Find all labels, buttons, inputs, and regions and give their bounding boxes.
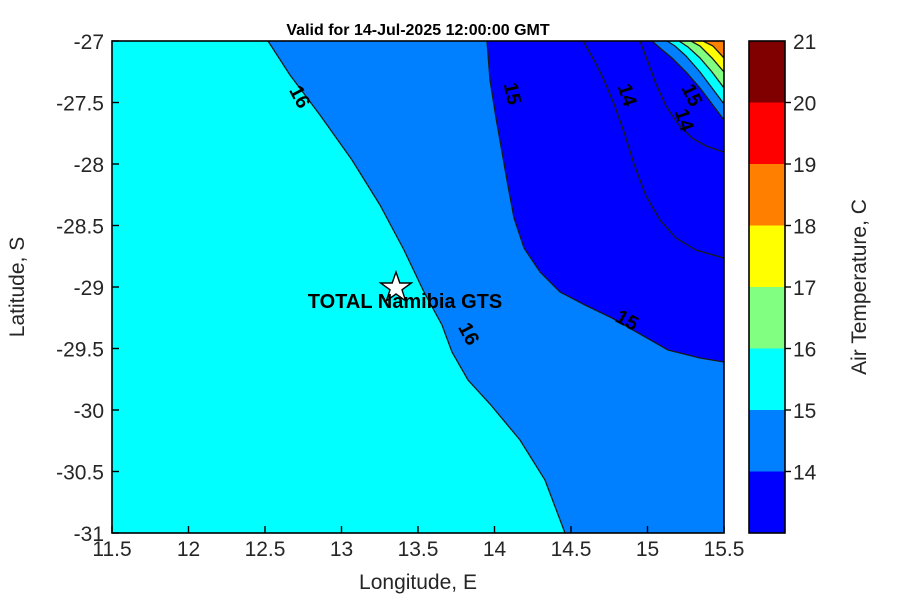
colorbar-band-20-21 [749, 41, 785, 103]
y-tick-label: -30 [74, 400, 104, 423]
colorbar-tick-label: 19 [793, 154, 816, 177]
x-tick-label: 12 [177, 538, 200, 561]
x-tick-label: 14.5 [551, 538, 592, 561]
y-tick-label: -27.5 [56, 93, 104, 116]
colorbar-band-19-20 [749, 103, 785, 165]
y-tick-label: -27 [74, 31, 104, 54]
colorbar-tick-label: 20 [793, 93, 816, 116]
x-tick-label: 13.5 [398, 538, 439, 561]
colorbar-band-17-18 [749, 226, 785, 288]
colorbar-band-15-16 [749, 349, 785, 411]
colorbar-tick-label: 16 [793, 339, 816, 362]
contour-label-15-upper: 15 [499, 81, 525, 107]
colorbar-tick-label: 14 [793, 462, 817, 485]
plot-area [112, 41, 724, 533]
x-tick-label: 13 [330, 538, 353, 561]
station-label: TOTAL Namibia GTS [308, 291, 502, 313]
y-tick-label: -31 [74, 523, 104, 546]
colorbar-tick-label: 15 [793, 400, 816, 423]
x-tick-label: 15.5 [704, 538, 745, 561]
y-tick-label: -29 [74, 277, 104, 300]
y-tick-label: -30.5 [56, 462, 104, 485]
x-tick-label: 15 [636, 538, 659, 561]
y-tick-label: -29.5 [56, 339, 104, 362]
x-tick-label: 12.5 [245, 538, 286, 561]
x-tick-label: 14 [483, 538, 507, 561]
colorbar-tick-label: 21 [793, 31, 816, 54]
colorbar-band-13-14 [749, 472, 785, 534]
x-axis-label: Longitude, E [359, 571, 477, 594]
colorbar-label: Air Temperature, C [848, 199, 871, 375]
colorbar-band-16-17 [749, 287, 785, 349]
page-title: Valid for 14-Jul-2025 12:00:00 GMT [286, 22, 549, 39]
colorbar-band-14-15 [749, 410, 785, 472]
y-tick-label: -28.5 [56, 216, 104, 239]
contour-map-figure: 16 15 14 15 14 16 15 TOTAL Namibia GTS V… [0, 0, 900, 600]
y-axis-label: Latitude, S [6, 237, 29, 337]
colorbar-tick-label: 18 [793, 216, 816, 239]
colorbar-tick-label: 17 [793, 277, 816, 300]
colorbar-band-18-19 [749, 164, 785, 226]
y-tick-label: -28 [74, 154, 104, 177]
